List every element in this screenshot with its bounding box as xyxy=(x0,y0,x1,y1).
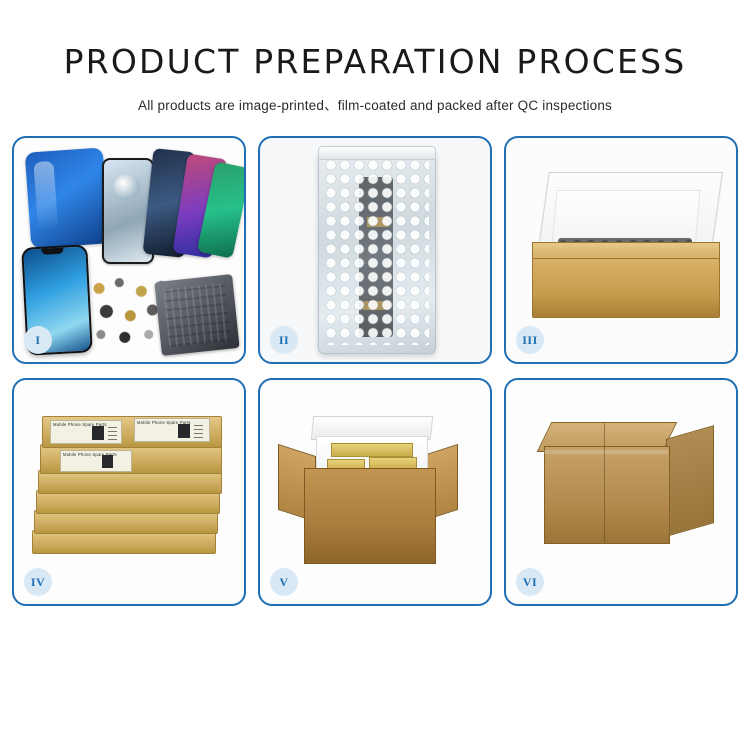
step-badge-5: V xyxy=(270,568,298,596)
step-badge-2: II xyxy=(270,326,298,354)
page-subtitle: All products are image-printed、film-coat… xyxy=(0,80,750,114)
carton-side-face xyxy=(666,425,714,537)
process-step-4: Mobile Phone Spare Parts Mobile Phone Sp… xyxy=(12,378,246,606)
page-title: PRODUCT PREPARATION PROCESS xyxy=(0,0,750,80)
bubble-bag xyxy=(318,150,436,354)
process-step-5: V xyxy=(258,378,492,606)
process-grid: I II III xyxy=(12,136,738,606)
circuit-board xyxy=(154,274,239,356)
process-step-6: VI xyxy=(504,378,738,606)
process-step-3: III xyxy=(504,136,738,364)
sealed-shipping-carton-image xyxy=(506,380,736,604)
box-body xyxy=(532,258,720,318)
box-label-screen-3 xyxy=(102,455,113,468)
carton-body xyxy=(304,468,436,564)
bubble-wrapped-part-image xyxy=(260,138,490,362)
process-step-2: II xyxy=(258,136,492,364)
packed-item-5 xyxy=(331,443,413,457)
box-label-lines-2 xyxy=(194,422,203,438)
open-kraft-box-image xyxy=(506,138,736,362)
carton-tape xyxy=(544,450,668,454)
blue-phone-back xyxy=(25,147,110,248)
box-label-lines-1 xyxy=(108,424,117,440)
box-label-screen-1 xyxy=(92,426,104,440)
carton-front-face xyxy=(544,446,670,544)
box-label-screen-2 xyxy=(178,424,190,438)
step-badge-6: VI xyxy=(516,568,544,596)
stacked-printed-boxes-image: Mobile Phone Spare Parts Mobile Phone Sp… xyxy=(14,380,244,604)
step-badge-3: III xyxy=(516,326,544,354)
carton-with-foam-box-image xyxy=(260,380,490,604)
phone-parts-collage-image xyxy=(14,138,244,362)
carton-seam xyxy=(604,422,605,542)
process-step-1: I xyxy=(12,136,246,364)
page-root: PRODUCT PREPARATION PROCESS All products… xyxy=(0,0,750,750)
bag-seal xyxy=(318,146,436,160)
step-badge-4: IV xyxy=(24,568,52,596)
bubble-texture xyxy=(325,159,429,345)
step-badge-1: I xyxy=(24,326,52,354)
